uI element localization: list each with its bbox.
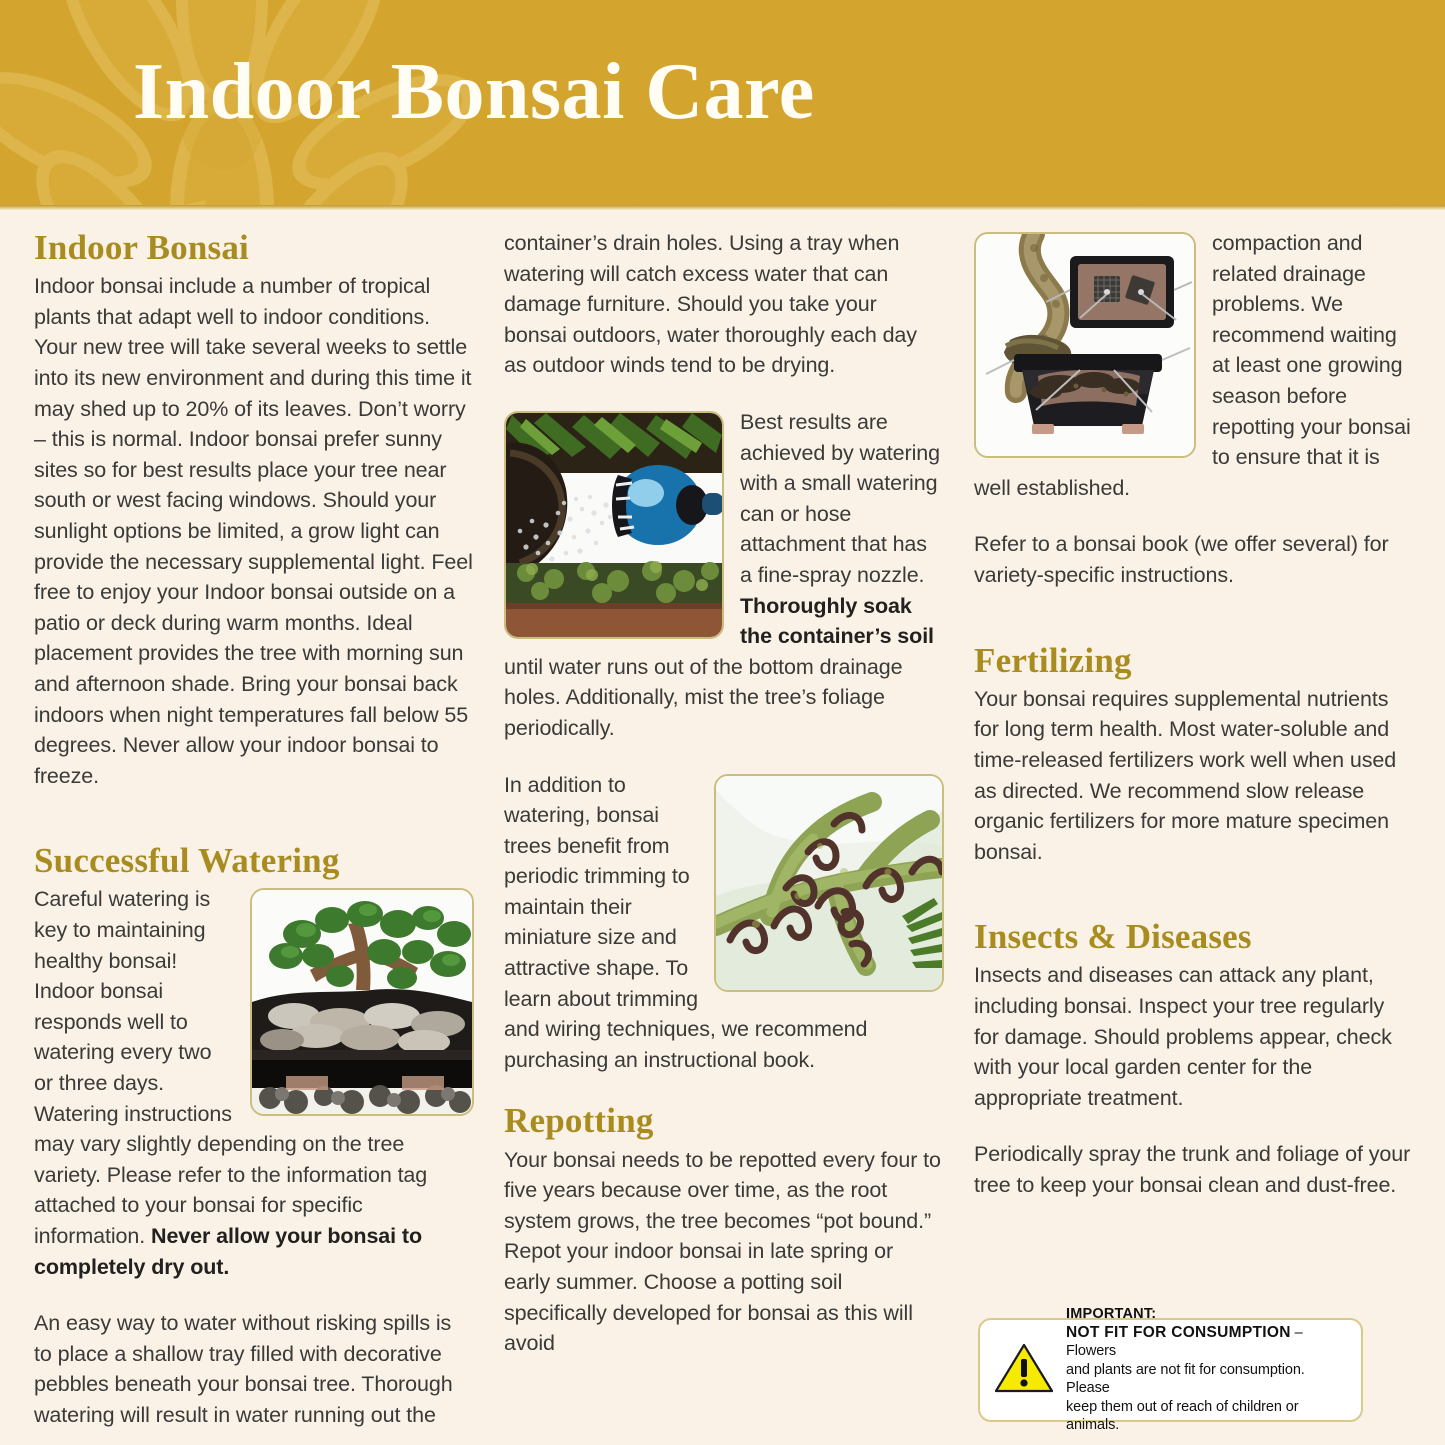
warning-line-2-bold: NOT FIT FOR CONSUMPTION (1066, 1324, 1291, 1341)
warning-line-1: IMPORTANT: (1066, 1306, 1156, 1322)
fertilizing-paragraph: Your bonsai requires supplemental nutrie… (974, 684, 1414, 868)
insects-paragraph-2: Periodically spray the trunk and foliage… (974, 1139, 1414, 1200)
section-gap-insects (974, 893, 1414, 917)
best-results-paragraph: Best results are achieved by watering wi… (504, 407, 944, 744)
bonsai-book-paragraph: Refer to a bonsai book (we offer several… (974, 529, 1414, 590)
jade-bonsai-in-pebble-tray-photo (250, 888, 474, 1116)
care-guide-page: Indoor Bonsai Care Indoor Bonsai Indoor … (0, 0, 1445, 1445)
warning-line-4: keep them out of reach of children or an… (1066, 1399, 1298, 1434)
section-heading-indoor-bonsai: Indoor Bonsai (34, 228, 474, 267)
best-results-text: Best results are achieved by watering wi… (740, 410, 940, 587)
thoroughly-soak-bold: Thoroughly soak the container’s soil (740, 594, 934, 649)
section-heading-insects-diseases: Insects & Diseases (974, 917, 1414, 956)
section-gap (34, 817, 474, 841)
warning-line-3: and plants are not fit for consumption. … (1066, 1362, 1305, 1397)
section-gap-fertilizing (974, 617, 1414, 641)
important-warning-box: IMPORTANT: NOT FIT FOR CONSUMPTION – Flo… (978, 1318, 1363, 1422)
section-heading-fertilizing: Fertilizing (974, 641, 1414, 680)
repotting-paragraph: Your bonsai needs to be repotted every f… (504, 1145, 944, 1359)
trimming-paragraph: In addition to watering, bonsai trees be… (504, 770, 944, 1076)
column-3: compaction and related drainage problems… (974, 228, 1414, 1431)
insects-paragraph-1: Insects and diseases can attack any plan… (974, 960, 1414, 1113)
column-1: Indoor Bonsai Indoor bonsai include a nu… (34, 228, 474, 1431)
page-header: Indoor Bonsai Care (0, 0, 1445, 211)
successful-watering-paragraph: Careful watering is key to maintaining h… (34, 884, 474, 1282)
wired-bonsai-branch-photo (714, 774, 944, 992)
drain-holes-paragraph: container’s drain holes. Using a tray wh… (504, 228, 944, 381)
column-2: container’s drain holes. Using a tray wh… (504, 228, 944, 1431)
warning-triangle-icon (994, 1342, 1054, 1399)
warning-text: IMPORTANT: NOT FIT FOR CONSUMPTION – Flo… (1066, 1305, 1347, 1435)
watering-tray-paragraph: An easy way to water without risking spi… (34, 1308, 474, 1430)
page-title: Indoor Bonsai Care (133, 50, 815, 134)
bonsai-pot-with-drainage-screens-photo (974, 232, 1196, 458)
section-heading-successful-watering: Successful Watering (34, 841, 474, 880)
header-divider (0, 205, 1445, 211)
until-water-runs-text: until water runs out of the bottom drain… (504, 655, 902, 740)
section-heading-repotting: Repotting (504, 1101, 944, 1140)
repotting-continued-paragraph: compaction and related drainage problems… (974, 228, 1414, 503)
indoor-bonsai-paragraph: Indoor bonsai include a number of tropic… (34, 271, 474, 791)
watering-with-fine-spray-nozzle-photo (504, 411, 724, 639)
content-columns: Indoor Bonsai Indoor bonsai include a nu… (0, 228, 1445, 1431)
